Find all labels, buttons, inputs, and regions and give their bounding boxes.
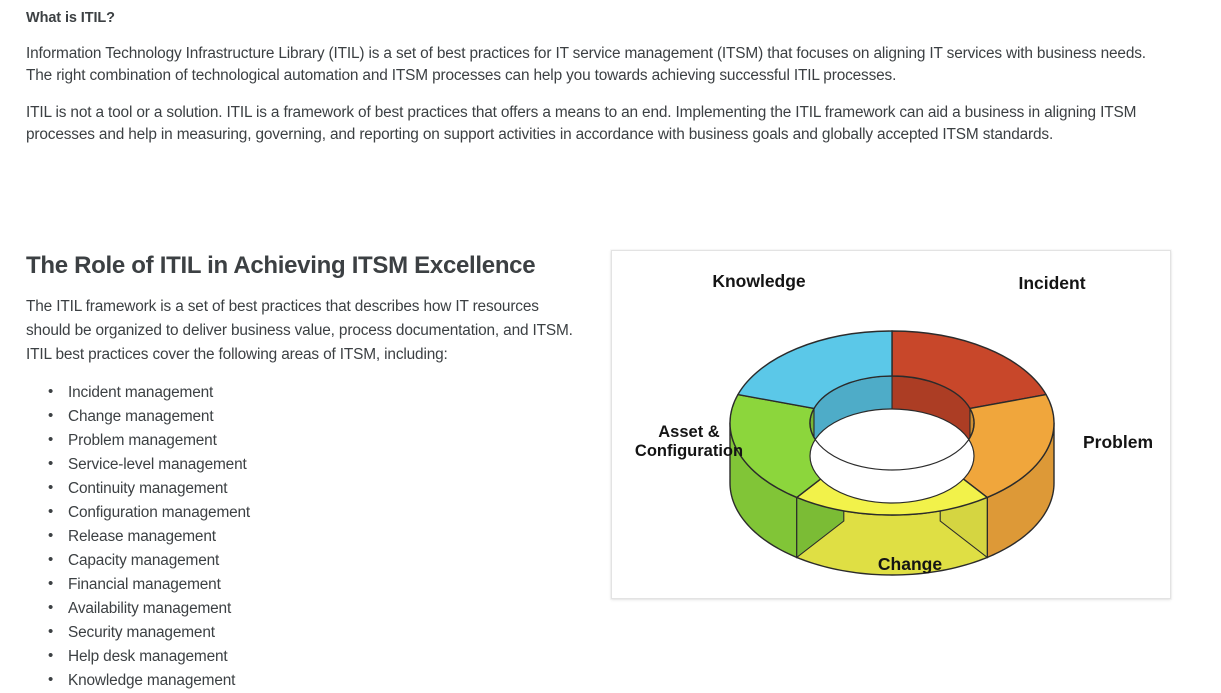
list-item: Release management [44, 525, 586, 549]
list-item: Financial management [44, 573, 586, 597]
donut-label-problem: Problem [1083, 432, 1153, 452]
list-item: Continuity management [44, 477, 586, 501]
donut-label-knowledge: Knowledge [712, 271, 806, 291]
list-item: Availability management [44, 597, 586, 621]
list-item: Security management [44, 621, 586, 645]
list-item: Capacity management [44, 549, 586, 573]
list-item: Configuration management [44, 501, 586, 525]
list-item: Change management [44, 405, 586, 429]
intro-heading: What is ITIL? [26, 8, 1146, 29]
list-item: Service-level management [44, 453, 586, 477]
list-item: Problem management [44, 429, 586, 453]
itil-donut-chart-card: IncidentProblemChangeAsset &Configuratio… [611, 250, 1171, 599]
intro-paragraph-1: Information Technology Infrastructure Li… [26, 43, 1146, 87]
role-paragraph: The ITIL framework is a set of best prac… [26, 295, 578, 367]
role-heading: The Role of ITIL in Achieving ITSM Excel… [26, 250, 586, 281]
page-root: What is ITIL? Information Technology Inf… [0, 0, 1221, 690]
donut-label-change: Change [878, 554, 942, 574]
list-item: Help desk management [44, 645, 586, 669]
list-item: Knowledge management [44, 669, 586, 693]
itsm-areas-list: Incident managementChange managementProb… [26, 381, 586, 693]
donut-3d [730, 331, 1054, 575]
role-section: The Role of ITIL in Achieving ITSM Excel… [26, 250, 586, 693]
donut-label-incident: Incident [1018, 273, 1085, 293]
intro-paragraph-2: ITIL is not a tool or a solution. ITIL i… [26, 102, 1146, 146]
intro-section: What is ITIL? Information Technology Inf… [26, 8, 1146, 161]
itil-donut-chart-svg: IncidentProblemChangeAsset &Configuratio… [612, 251, 1170, 598]
list-item: Incident management [44, 381, 586, 405]
